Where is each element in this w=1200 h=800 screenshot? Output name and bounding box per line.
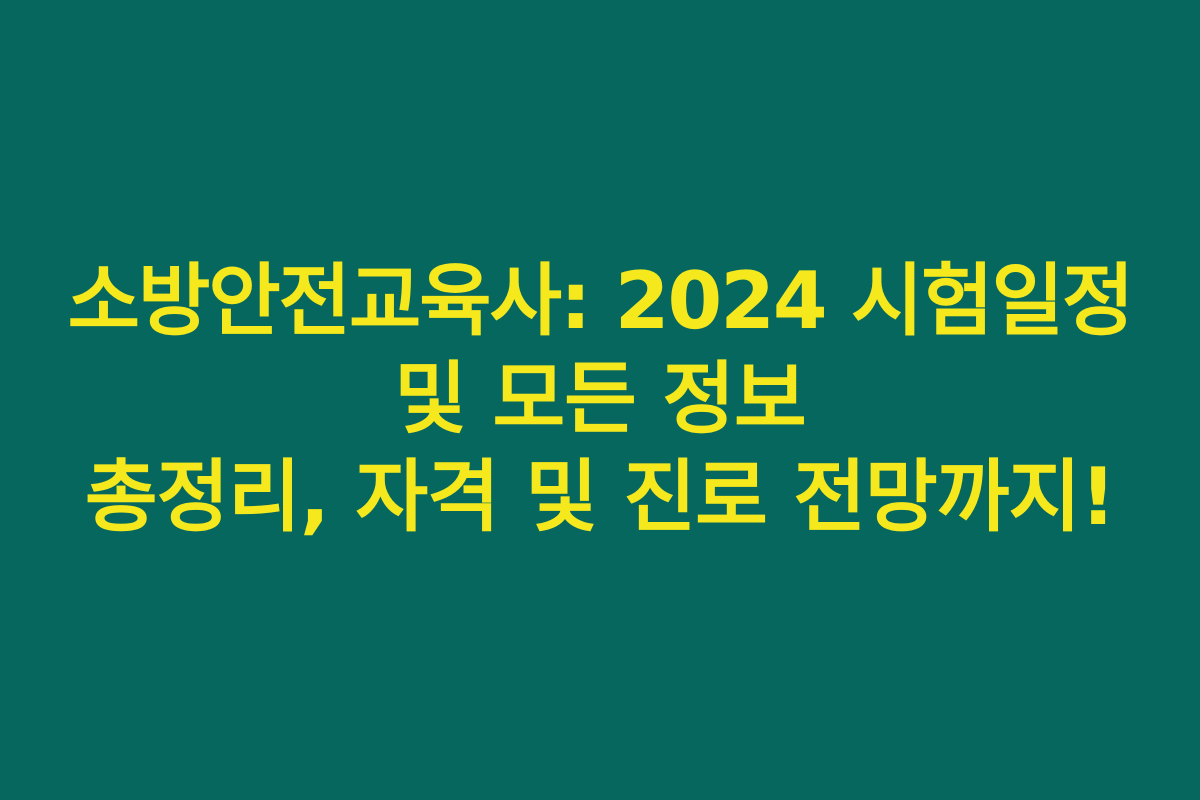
banner-canvas: 소방안전교육사: 2024 시험일정 및 모든 정보 총정리, 자격 및 진로 … bbox=[0, 0, 1200, 800]
banner-title-line-2: 및 모든 정보 bbox=[394, 350, 805, 448]
banner-title-block: 소방안전교육사: 2024 시험일정 및 모든 정보 총정리, 자격 및 진로 … bbox=[20, 252, 1180, 546]
banner-title-line-3: 총정리, 자격 및 진로 전망까지! bbox=[85, 448, 1115, 546]
banner-title-line-1: 소방안전교육사: 2024 시험일정 bbox=[68, 252, 1133, 350]
